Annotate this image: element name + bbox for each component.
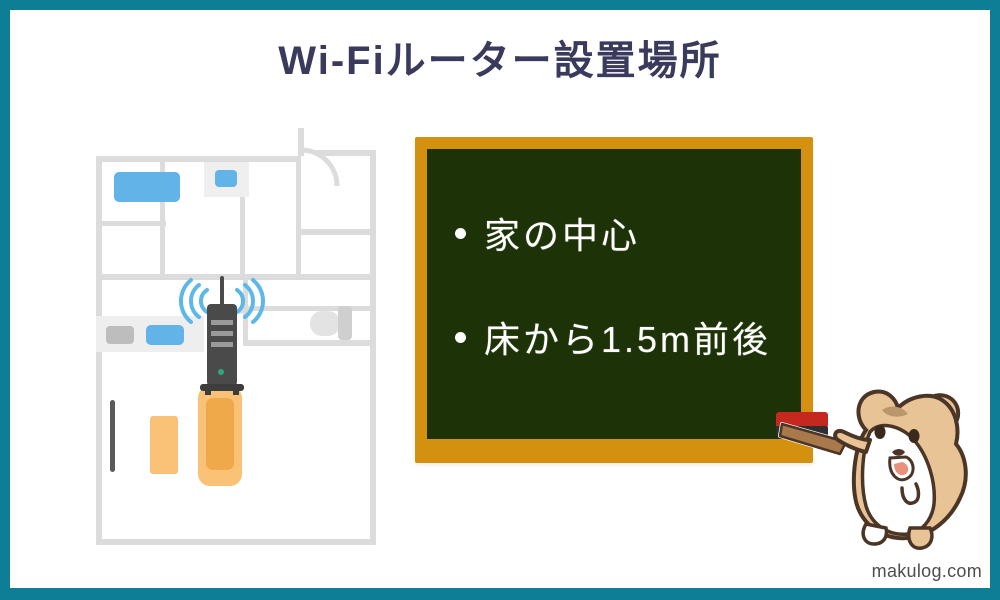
fixture-tv [110,400,115,472]
bullet-icon [455,332,466,343]
frame-border-top [0,0,1000,10]
page-title: Wi-Fiルーター設置場所 [0,28,1000,86]
frame-border-left [0,0,10,600]
frame-border-right [990,0,1000,600]
chalkboard-bullet-list: 家の中心 床から1.5m前後 [455,207,791,415]
floorplan-illustration [88,128,383,553]
fixture-kitchen-sink [146,325,184,345]
router-led-icon [218,369,224,375]
fixture-bathtub [114,172,180,202]
fixture-washbasin [215,170,237,187]
chalkboard: 家の中心 床から1.5m前後 [415,137,813,463]
foot-left [863,524,886,544]
eye-right-icon [909,429,920,443]
eye-left-icon [875,425,886,439]
bullet-icon [455,228,466,239]
frame-border-bottom [0,588,1000,600]
list-item-label: 家の中心 [484,207,640,259]
list-item: 床から1.5m前後 [455,311,791,363]
mouth-icon [890,457,913,480]
foot-right [909,528,932,548]
list-item: 家の中心 [455,207,791,259]
list-item-label: 床から1.5m前後 [484,311,771,363]
fixture-kitchen-stove [106,326,134,344]
chalkboard-surface: 家の中心 床から1.5m前後 [427,149,801,439]
poster-canvas: Wi-Fiルーター設置場所 [0,0,1000,600]
watermark: makulog.com [872,561,982,582]
hamster-character [770,378,990,563]
fixture-sofa [198,386,242,486]
fixture-table [150,416,178,474]
